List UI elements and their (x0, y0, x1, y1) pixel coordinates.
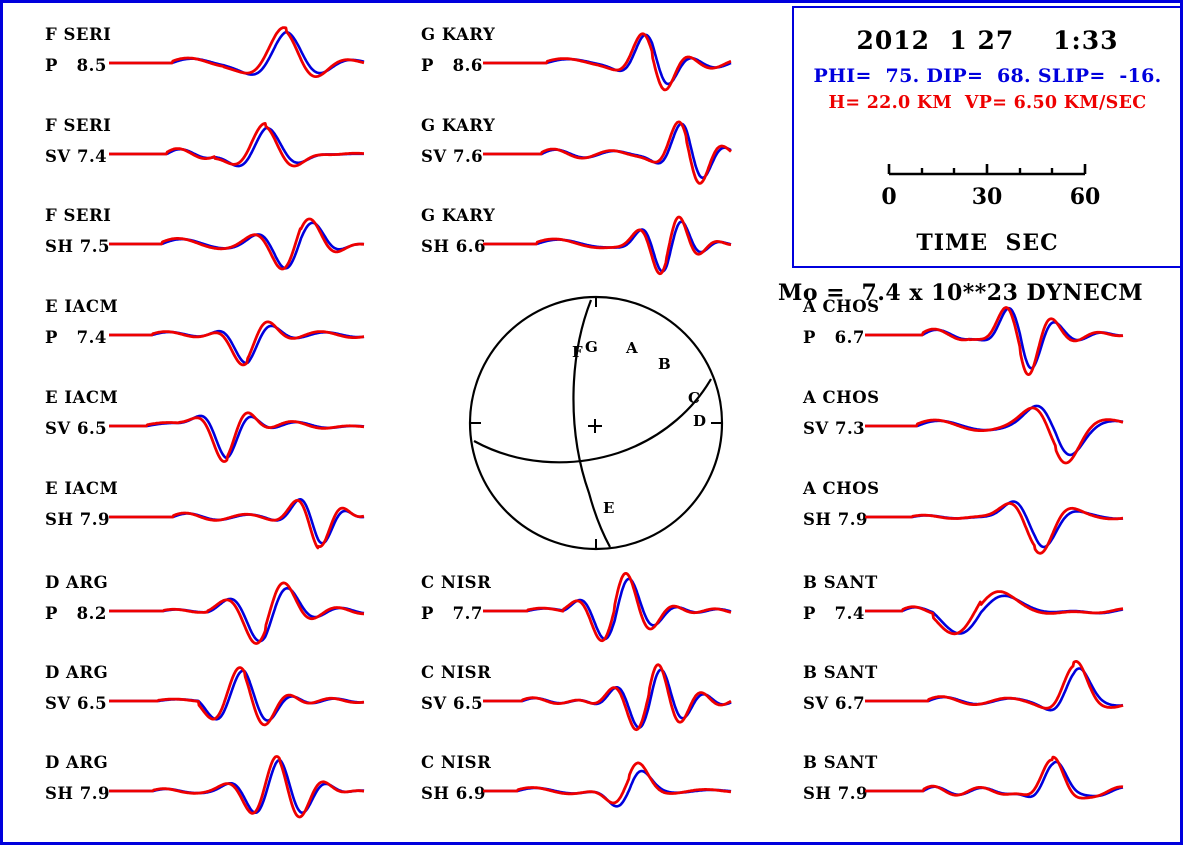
waveform-trace-svg (109, 663, 374, 747)
waveform-panel: G KARYP 8.6P8.6 (421, 25, 731, 109)
waveform-phase-amplitude-label: SH 7.9 (803, 510, 868, 529)
waveform-panel: B SANTSV 6.7SV6.7 (803, 663, 1123, 747)
waveform-phase-amplitude-label: SV 6.5 (45, 694, 107, 713)
waveform-phase-amplitude-label: SH 7.9 (45, 510, 110, 529)
waveform-trace-svg (109, 388, 374, 472)
waveform-phase-amplitude-label: P 7.7 (421, 604, 483, 623)
observed-waveform-path (109, 128, 364, 166)
waveform-phase-amplitude-label: SV 6.5 (45, 419, 107, 438)
waveform-station-label: C NISR (421, 753, 491, 772)
waveform-phase-amplitude-label: P 7.4 (45, 328, 107, 347)
waveform-phase-amplitude-label: SV 6.5 (421, 694, 483, 713)
depth-velocity-params: H= 22.0 KM VP= 6.50 KM/SEC (794, 93, 1181, 113)
waveform-panel: G KARYSV 7.6SV7.6 (421, 116, 731, 200)
synthetic-waveform-path (109, 322, 364, 365)
waveform-panel: E IACMSH 7.9SH7.9 (45, 479, 364, 563)
observed-waveform-path (109, 671, 364, 721)
synthetic-waveform-path (483, 763, 731, 803)
synthetic-waveform-path (483, 573, 731, 640)
synthetic-waveform-path (483, 34, 731, 90)
waveform-phase-amplitude-label: P 8.2 (45, 604, 107, 623)
time-axis-caption: TIME SEC (794, 230, 1181, 256)
waveform-panel: C NISRSH 6.9SH6.9 (421, 753, 731, 837)
waveform-trace-svg (109, 479, 374, 563)
seismic-moment-label: Mo = 7.4 x 10**23 DYNECM (778, 280, 1178, 306)
waveform-trace-svg (483, 25, 741, 109)
observed-waveform-path (109, 760, 364, 813)
waveform-station-label: E IACM (45, 297, 118, 316)
waveform-station-label: D ARG (45, 663, 108, 682)
observed-waveform-path (865, 596, 1123, 634)
observed-waveform-path (865, 502, 1123, 547)
waveform-trace-svg (865, 297, 1133, 381)
waveform-panel: E IACMP 7.4P7.4 (45, 297, 364, 381)
beachball-marker-a: A (626, 339, 638, 357)
synthetic-waveform-path (865, 757, 1123, 798)
beachball-marker-b: B (658, 355, 671, 373)
event-info-box: 2012 1 27 1:33 PHI= 75. DIP= 68. SLIP= -… (792, 6, 1183, 268)
waveform-station-label: F SERI (45, 206, 111, 225)
waveform-station-label: E IACM (45, 479, 118, 498)
waveform-trace-svg (109, 753, 374, 837)
nodal-plane-2 (474, 379, 711, 462)
waveform-panel: A CHOSSV 7.3SV7.3 (803, 388, 1123, 472)
waveform-phase-amplitude-label: SH 7.9 (45, 784, 110, 803)
event-datetime: 2012 1 27 1:33 (794, 26, 1181, 55)
waveform-phase-amplitude-label: P 6.7 (803, 328, 865, 347)
waveform-phase-amplitude-label: P 8.5 (45, 56, 107, 75)
beachball-marker-g: G (585, 338, 598, 356)
waveform-trace-svg (109, 206, 374, 290)
waveform-panel: D ARGSV 6.5SV6.5 (45, 663, 364, 747)
beachball-marker-f: F (572, 343, 583, 361)
waveform-panel: A CHOSSH 7.9SH7.9 (803, 479, 1123, 563)
observed-waveform-path (109, 32, 364, 75)
seismic-waveform-figure: F SERIP 8.5P8.5F SERISV 7.4SV7.4F SERISH… (0, 0, 1183, 845)
waveform-panel: B SANTSH 7.9SH7.9 (803, 753, 1123, 837)
synthetic-waveform-path (109, 500, 364, 548)
waveform-phase-amplitude-label: SV 7.6 (421, 147, 483, 166)
waveform-trace-svg (865, 573, 1133, 657)
synthetic-waveform-path (109, 219, 364, 269)
waveform-panel: F SERISH 7.5SH7.5 (45, 206, 364, 290)
focal-mechanism-beachball: FGABCDE (468, 281, 728, 561)
center-cross-icon (588, 419, 602, 433)
waveform-trace-svg (109, 25, 374, 109)
waveform-station-label: C NISR (421, 573, 491, 592)
waveform-panel: C NISRSV 6.5SV6.5 (421, 663, 731, 747)
tick-label-30: 30 (967, 184, 1007, 210)
waveform-trace-svg (109, 573, 374, 657)
waveform-trace-svg (483, 116, 741, 200)
waveform-phase-amplitude-label: SH 7.5 (45, 237, 110, 256)
waveform-trace-svg (865, 388, 1133, 472)
waveform-trace-svg (109, 116, 374, 200)
synthetic-waveform-path (865, 408, 1123, 463)
waveform-station-label: C NISR (421, 663, 491, 682)
focal-mechanism-params: PHI= 75. DIP= 68. SLIP= -16. (794, 65, 1181, 87)
waveform-phase-amplitude-label: SH 6.9 (421, 784, 486, 803)
waveform-station-label: F SERI (45, 25, 111, 44)
waveform-panel: F SERISV 7.4SV7.4 (45, 116, 364, 200)
beachball-svg (468, 281, 728, 561)
observed-waveform-path (109, 588, 364, 641)
waveform-panel: F SERIP 8.5P8.5 (45, 25, 364, 109)
waveform-phase-amplitude-label: SV 7.4 (45, 147, 107, 166)
waveform-phase-amplitude-label: SV 6.7 (803, 694, 865, 713)
beachball-marker-d: D (693, 412, 706, 430)
waveform-trace-svg (483, 206, 741, 290)
synthetic-waveform-path (865, 308, 1123, 375)
waveform-phase-amplitude-label: SH 7.9 (803, 784, 868, 803)
waveform-panel: B SANTP 7.4P7.4 (803, 573, 1123, 657)
waveform-panel: D ARGSH 7.9SH7.9 (45, 753, 364, 837)
waveform-trace-svg (483, 573, 741, 657)
waveform-phase-amplitude-label: SH 6.6 (421, 237, 486, 256)
waveform-panel: E IACMSV 6.5SV6.5 (45, 388, 364, 472)
waveform-station-label: E IACM (45, 388, 118, 407)
waveform-trace-svg (865, 479, 1133, 563)
waveform-panel: D ARGP 8.2P8.2 (45, 573, 364, 657)
waveform-trace-svg (483, 663, 741, 747)
waveform-trace-svg (865, 663, 1133, 747)
time-scale-bar: 0 30 60 (794, 158, 1181, 192)
beachball-marker-e: E (603, 499, 614, 517)
synthetic-waveform-path (865, 503, 1123, 553)
waveform-phase-amplitude-label: SV 7.3 (803, 419, 865, 438)
tick-label-0: 0 (869, 184, 909, 210)
waveform-phase-amplitude-label: P 8.6 (421, 56, 483, 75)
waveform-panel: G KARYSH 6.6SH6.6 (421, 206, 731, 290)
beachball-marker-c: C (688, 389, 700, 407)
observed-waveform-path (483, 579, 731, 639)
synthetic-waveform-path (109, 123, 364, 166)
tick-label-60: 60 (1065, 184, 1105, 210)
waveform-station-label: D ARG (45, 753, 108, 772)
waveform-panel: C NISRP 7.7P7.7 (421, 573, 731, 657)
waveform-panel: A CHOSP 6.7P6.7 (803, 297, 1123, 381)
synthetic-waveform-path (865, 661, 1123, 708)
waveform-station-label: D ARG (45, 573, 108, 592)
waveform-station-label: F SERI (45, 116, 111, 135)
observed-waveform-path (109, 416, 364, 458)
waveform-phase-amplitude-label: P 7.4 (803, 604, 865, 623)
waveform-trace-svg (483, 753, 741, 837)
waveform-trace-svg (865, 753, 1133, 837)
waveform-trace-svg (109, 297, 374, 381)
